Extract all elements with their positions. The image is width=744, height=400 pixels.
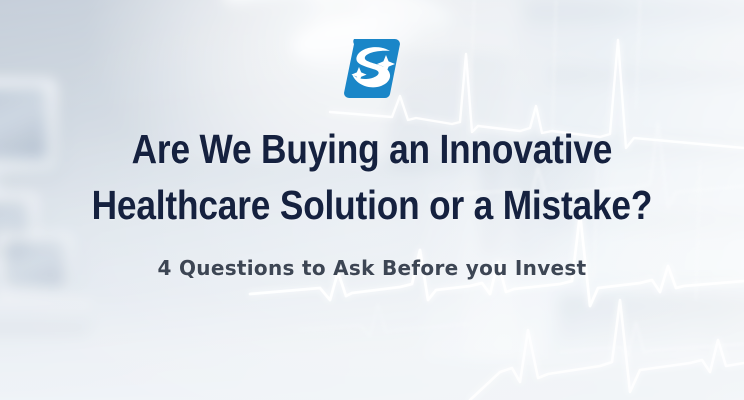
page-title: Are We Buying an Innovative Healthcare S…: [92, 122, 653, 234]
headline-line-2: Healthcare Solution or a Mistake?: [92, 178, 653, 234]
headline-line-1: Are We Buying an Innovative: [92, 122, 653, 178]
brand-logo-icon[interactable]: [343, 36, 401, 100]
hero-banner: Are We Buying an Innovative Healthcare S…: [0, 0, 744, 400]
banner-content: Are We Buying an Innovative Healthcare S…: [0, 0, 744, 400]
page-subtitle: 4 Questions to Ask Before you Invest: [158, 256, 587, 280]
